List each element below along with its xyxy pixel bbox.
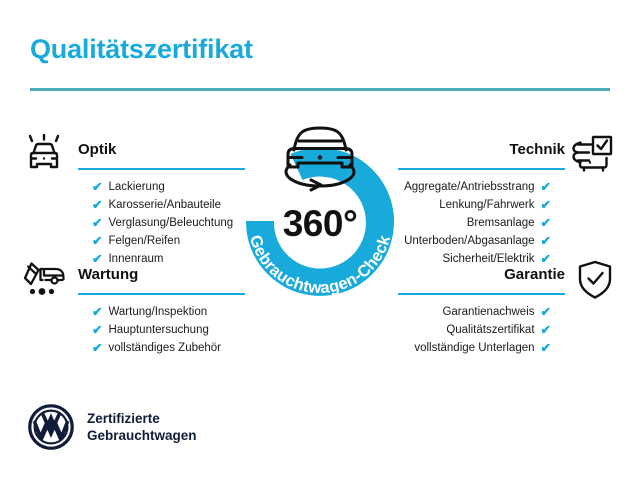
list-item: ✔ Karosserie/Anbauteile [92,196,245,214]
section-title: Wartung [78,265,245,285]
badge-center-label: 360° [283,203,358,244]
list-item: Garantienachweis ✔ [398,303,551,321]
list-item: ✔ Verglasung/Beleuchtung [92,214,245,232]
list-item: ✔ Wartung/Inspektion [92,303,245,321]
list-item-label: Bremsanlage [467,214,535,232]
list-item: ✔ Hauptuntersuchung [92,321,245,339]
checklist: ✔ Lackierung ✔ Karosserie/Anbauteile ✔ V… [78,170,245,268]
check-icon: ✔ [541,303,551,321]
section-divider [398,168,565,170]
section-title: Garantie [398,265,565,285]
list-item: Aggregate/Antriebsstrang ✔ [398,178,551,196]
list-item-label: Wartung/Inspektion [108,303,207,321]
section-technik: Technik Aggregate/Antriebsstrang ✔ Lenku… [398,140,565,268]
list-item-label: vollständige Unterlagen [414,339,534,357]
section-header: Wartung [78,265,245,295]
check-icon: ✔ [541,232,551,250]
list-item-label: Lenkung/Fahrwerk [439,196,534,214]
check-icon: ✔ [541,178,551,196]
list-item: ✔ Felgen/Reifen [92,232,245,250]
car-rotate-icon [286,128,354,190]
check-icon: ✔ [92,303,102,321]
section-header: Garantie [398,265,565,295]
vw-logo [28,404,74,450]
section-optik: Optik ✔ Lackierung ✔ Karosserie/Anbautei… [78,140,245,268]
check-icon: ✔ [92,196,102,214]
section-garantie: Garantie Garantienachweis ✔ Qualitätszer… [398,265,565,357]
list-item-label: Lackierung [108,178,164,196]
check-icon: ✔ [92,321,102,339]
footer-brand-text: Zertifizierte Gebrauchtwagen [87,410,197,444]
list-item: ✔ Lackierung [92,178,245,196]
footer-brand: Zertifizierte Gebrauchtwagen [28,404,197,450]
footer-line-2: Gebrauchtwagen [87,427,197,444]
list-item: Unterboden/Abgasanlage ✔ [398,232,551,250]
list-item-label: Verglasung/Beleuchtung [108,214,233,232]
section-divider [398,293,565,295]
title-divider [30,88,610,91]
list-item-label: Aggregate/Antriebsstrang [404,178,534,196]
list-item: Lenkung/Fahrwerk ✔ [398,196,551,214]
section-divider [78,293,245,295]
section-header: Optik [78,140,245,170]
checklist: Aggregate/Antriebsstrang ✔ Lenkung/Fahrw… [398,170,565,268]
pen-service-book-icon [20,259,68,301]
check-icon: ✔ [541,321,551,339]
section-title: Technik [398,140,565,160]
list-item-label: Felgen/Reifen [108,232,180,250]
section-title: Optik [78,140,245,160]
check-icon: ✔ [541,196,551,214]
list-item: Qualitätszertifikat ✔ [398,321,551,339]
footer-line-1: Zertifizierte [87,410,197,427]
checklist: ✔ Wartung/Inspektion ✔ Hauptuntersuchung… [78,295,245,357]
car-checkbox-icon [567,134,615,176]
section-header: Technik [398,140,565,170]
check-icon: ✔ [541,339,551,357]
list-item-label: Hauptuntersuchung [108,321,208,339]
list-item: Bremsanlage ✔ [398,214,551,232]
list-item-label: Karosserie/Anbauteile [108,196,221,214]
checklist: Garantienachweis ✔ Qualitätszertifikat ✔… [398,295,565,357]
section-divider [78,168,245,170]
list-item: ✔ vollständiges Zubehör [92,339,245,357]
list-item-label: vollständiges Zubehör [108,339,221,357]
list-item-label: Garantienachweis [442,303,534,321]
car-front-lights-icon [20,134,68,176]
quality-certificate-page: Qualitätszertifikat [0,0,639,479]
check-icon: ✔ [92,178,102,196]
check-icon: ✔ [92,339,102,357]
section-wartung: Wartung ✔ Wartung/Inspektion ✔ Hauptunte… [78,265,245,357]
check-icon: ✔ [92,232,102,250]
check-icon: ✔ [92,214,102,232]
360-check-badge: Gebrauchtwagen-Check 360° [232,118,408,303]
list-item-label: Unterboden/Abgasanlage [404,232,534,250]
list-item: vollständige Unterlagen ✔ [398,339,551,357]
page-title: Qualitätszertifikat [30,34,253,65]
list-item-label: Qualitätszertifikat [446,321,534,339]
shield-check-icon [571,259,619,301]
check-icon: ✔ [541,214,551,232]
